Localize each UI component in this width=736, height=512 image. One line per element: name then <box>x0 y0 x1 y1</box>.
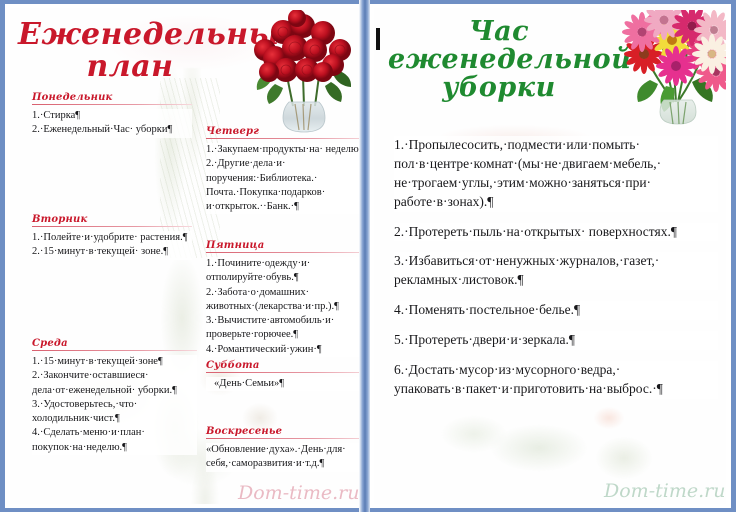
day-rule-sunday <box>206 438 362 439</box>
task-item: 2.·Закончите·оставшиеся· дела·от·еженеде… <box>32 369 197 398</box>
task-item: 1.·Полейте·и·удобрите· растения.¶ <box>32 231 192 245</box>
list-item: 4.·Поменять·постельное·белье.¶ <box>394 301 718 320</box>
left-title-line-2: план <box>18 52 242 82</box>
task-item: 2.·15·минут·в·текущей· зоне.¶ <box>32 245 192 259</box>
day-rule-thursday <box>206 138 362 139</box>
day-block-monday: Понедельник 1.·Стирка¶ 2.·Еженедельный·Ч… <box>32 92 192 138</box>
day-rule-monday <box>32 104 192 105</box>
day-body-friday: 1.·Починитe·одежду·и· отполируйте·обувь.… <box>206 257 362 357</box>
day-block-tuesday: Вторник 1.·Полейте·и·удобрите· растения.… <box>32 214 192 260</box>
page-marker-tab <box>376 28 380 50</box>
task-item: 1.·Починитe·одежду·и· отполируйте·обувь.… <box>206 257 362 286</box>
task-item: 2.·Другие·дела·и· поручения:·Библиотека.… <box>206 157 362 214</box>
left-page: Еженедельный план <box>0 0 366 512</box>
red-roses-bouquet-image <box>245 10 362 138</box>
task-item: 1.·Закупаем·продукты·на· неделю.¶ <box>206 143 362 157</box>
list-item: 1.·Пропылесосить,·подмести·или·помыть· п… <box>394 136 718 212</box>
left-watermark: Dom-time.ru <box>238 482 359 504</box>
day-header-sunday: Воскресенье <box>206 426 362 438</box>
gerbera-bouquet-image <box>620 10 726 132</box>
day-block-thursday: Четверг 1.·Закупаем·продукты·на· неделю.… <box>206 126 362 214</box>
day-header-tuesday: Вторник <box>32 214 192 226</box>
task-item: 1.·15·минут·в·текущей·зоне¶ <box>32 355 197 369</box>
left-page-title: Еженедельный план <box>18 20 242 82</box>
day-body-wednesday: 1.·15·минут·в·текущей·зоне¶ 2.·Закончите… <box>32 355 197 455</box>
day-body-sunday: «Обновление·духа».·День·для· себя,·самор… <box>206 443 362 472</box>
right-page-title: Час еженедельной уборки <box>388 18 610 101</box>
list-item: 6.·Достать·мусор·из·мусорного·ведра,· уп… <box>394 361 718 399</box>
slide-pair-canvas: Еженедельный план <box>0 0 736 512</box>
task-item: «Обновление·духа».·День·для· себя,·самор… <box>206 443 362 472</box>
right-page: Час еженедельной уборки <box>370 0 736 512</box>
day-body-monday: 1.·Стирка¶ 2.·Еженедельный·Час· уборки¶ <box>32 109 192 138</box>
right-watermark: Dom-time.ru <box>604 480 725 502</box>
day-rule-friday <box>206 252 362 253</box>
task-item: 4.·Сделать·меню·и·план· покупок·на·недел… <box>32 426 197 455</box>
list-item: 3.·Избавиться·от·ненужных·журналов,·газе… <box>394 252 718 290</box>
task-item: 1.·Стирка¶ <box>32 109 192 123</box>
right-title-line-1: Час <box>469 16 529 47</box>
day-block-friday: Пятница 1.·Починитe·одежду·и· отполируйт… <box>206 240 362 357</box>
day-body-thursday: 1.·Закупаем·продукты·на· неделю.¶ 2.·Дру… <box>206 143 362 214</box>
list-item: 5.·Протереть·двери·и·зеркала.¶ <box>394 331 718 350</box>
day-body-saturday: «День·Семьи»¶ <box>206 377 362 391</box>
day-header-thursday: Четверг <box>206 126 362 138</box>
day-block-saturday: Суббота «День·Семьи»¶ <box>206 360 362 391</box>
day-block-wednesday: Среда 1.·15·минут·в·текущей·зоне¶ 2.·Зак… <box>32 338 197 455</box>
right-title-line-2: еженедельной <box>388 46 610 73</box>
day-body-tuesday: 1.·Полейте·и·удобрите· растения.¶ 2.·15·… <box>32 231 192 260</box>
task-item: 2.·Еженедельный·Час· уборки¶ <box>32 123 192 137</box>
task-item: 4.·Романтический·ужин·¶ <box>206 343 362 357</box>
right-page-content: Час еженедельной уборки <box>374 8 726 504</box>
left-page-content: Еженедельный план <box>10 8 362 504</box>
task-item: 2.·Забота·о·домашних· животных·(лекарств… <box>206 286 362 315</box>
day-rule-tuesday <box>32 226 192 227</box>
day-block-sunday: Воскресенье «Обновление·духа».·День·для·… <box>206 426 362 472</box>
day-rule-wednesday <box>32 350 197 351</box>
task-item: 3.·Удостоверьтесь,·что· холодильник·чист… <box>32 398 197 427</box>
day-header-wednesday: Среда <box>32 338 197 350</box>
task-item: «День·Семьи»¶ <box>214 377 362 391</box>
day-rule-saturday <box>206 372 362 373</box>
day-header-monday: Понедельник <box>32 92 192 104</box>
list-item: 2.·Протереть·пыль·на·открытых· поверхнос… <box>394 223 718 242</box>
day-header-saturday: Суббота <box>206 360 362 372</box>
task-item: 3.·Вычистите·автомобиль·и· проверьте·гор… <box>206 314 362 343</box>
day-header-friday: Пятница <box>206 240 362 252</box>
right-title-line-3: уборки <box>388 74 610 101</box>
cleaning-task-list: 1.·Пропылесосить,·подмести·или·помыть· п… <box>394 136 718 410</box>
